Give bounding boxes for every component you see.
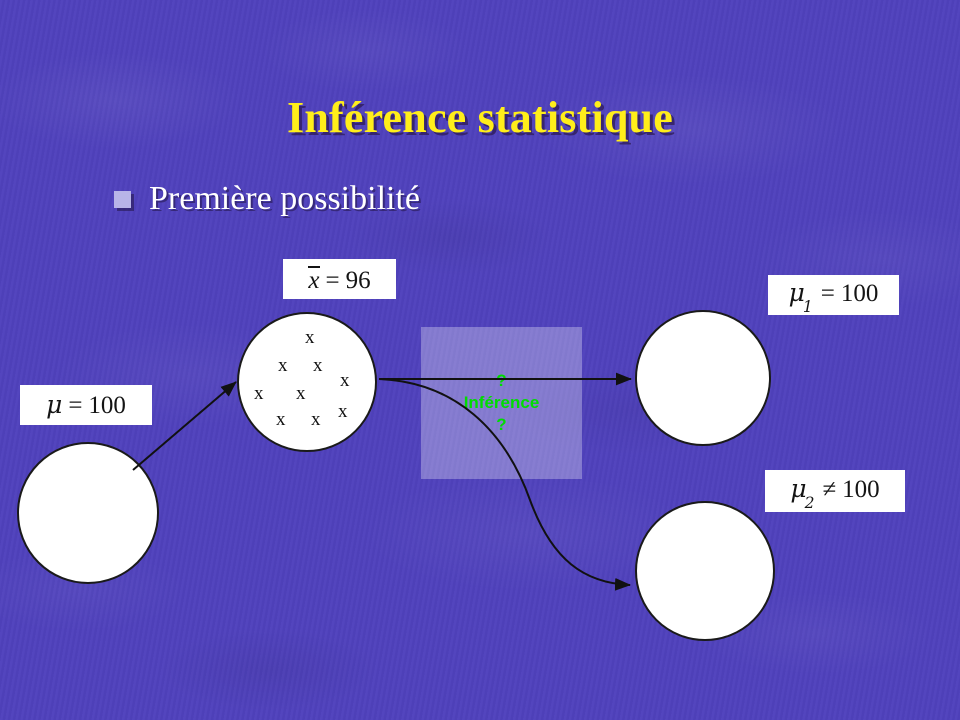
sample-point-x: x (338, 402, 348, 421)
inference-question-bottom: ? (421, 414, 582, 436)
sample-point-x: x (313, 356, 323, 375)
inference-question-top: ? (421, 370, 582, 392)
sample-point-x: x (254, 384, 264, 403)
sample-point-x: x (276, 410, 286, 429)
bullet-list-item: Première possibilité (114, 180, 420, 218)
sample-point-x: x (340, 371, 350, 390)
population-mean-formula-box: μ=100 (20, 385, 152, 425)
inference-label-group: ? Inférence ? (421, 370, 582, 435)
hypothesis-2-formula-box: μ2≠100 (765, 470, 905, 512)
inference-label: Inférence (421, 392, 582, 414)
presentation-slide: Inférence statistique Première possibili… (0, 0, 960, 720)
population-mean-formula: μ=100 (46, 392, 126, 418)
sample-point-x: x (311, 410, 321, 429)
page-title: Inférence statistique (0, 92, 960, 143)
hypothesis-1-formula: μ1=100 (789, 280, 879, 311)
sample-mean-formula: x=96 (308, 266, 370, 293)
sample-point-x: x (305, 328, 315, 347)
sample-point-x: x (278, 356, 288, 375)
hypothesis-1-circle (635, 310, 771, 446)
hypothesis-2-formula: μ2≠100 (790, 476, 879, 507)
hypothesis-2-circle (635, 501, 775, 641)
bullet-item-label: Première possibilité (149, 180, 420, 218)
sample-circle: x x x x x x x x x (237, 312, 377, 452)
population-circle (17, 442, 159, 584)
hypothesis-1-formula-box: μ1=100 (768, 275, 899, 315)
sample-mean-formula-box: x=96 (283, 259, 396, 299)
square-bullet-icon (114, 191, 131, 208)
sample-point-x: x (296, 384, 306, 403)
